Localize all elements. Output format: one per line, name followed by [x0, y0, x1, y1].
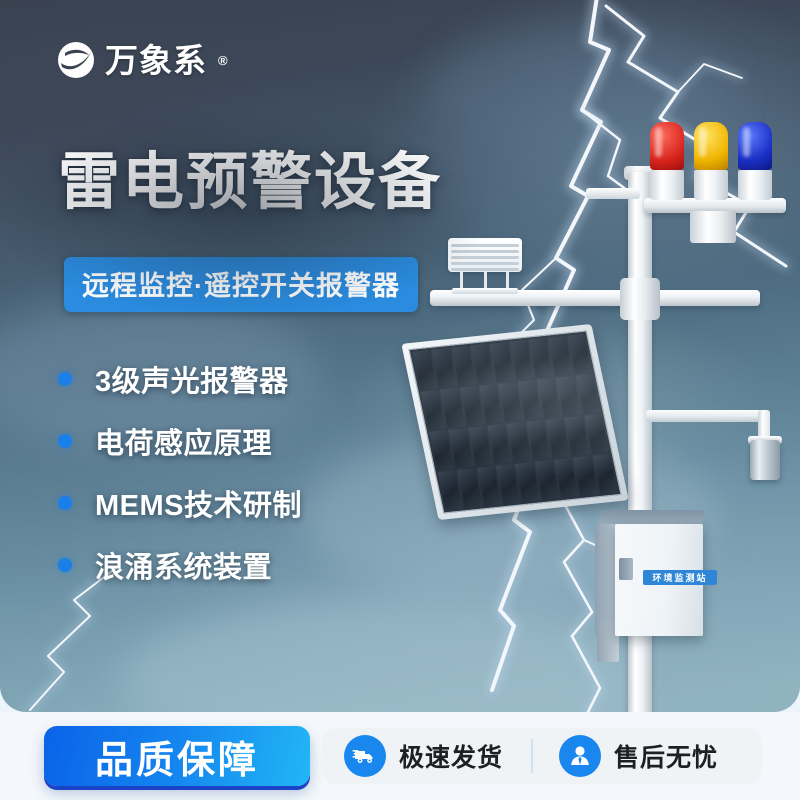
control-box-top: [597, 510, 705, 528]
mast-pole: [628, 172, 652, 712]
feature-label: MEMS技术研制: [95, 482, 302, 524]
cloud-wisp: [430, 30, 730, 160]
feature-list: 3级声光报警器 电荷感应原理 MEMS技术研制 浪涌系统装置: [58, 348, 302, 596]
list-item: 3级声光报警器: [58, 348, 302, 410]
swoosh-circle-icon: [56, 40, 96, 80]
delivery-truck-icon: [344, 735, 386, 777]
brand-name: 万象系: [105, 44, 207, 77]
solar-panel: [401, 324, 628, 520]
control-box-lower: [597, 620, 619, 662]
control-box-side: [595, 524, 617, 636]
bullet-dot-icon: [58, 558, 72, 572]
yellow-beacon: [694, 122, 728, 200]
camera-arm-vertical: [758, 410, 770, 458]
list-item: MEMS技术研制: [58, 472, 302, 534]
product-poster: 环境监测站 万象系 ® 雷电预警设备 远程监控·遥控开关报警器 3级声光报: [0, 0, 800, 800]
trust-divider: [531, 739, 533, 773]
page-title: 雷电预警设备: [58, 152, 442, 214]
footer-trust-bar: 品质保障 极速发货: [0, 712, 800, 800]
solar-panel-strut: [586, 188, 640, 199]
shield-louvers: [448, 238, 522, 272]
beacon-junction-box: [690, 211, 736, 243]
red-beacon-base: [650, 170, 684, 200]
brand-logo: 万象系 ®: [56, 40, 228, 80]
crossarm: [430, 290, 760, 306]
lightning-bolt-lower: [520, 430, 700, 712]
solar-cell-grid: [409, 330, 622, 513]
cloud-wisp: [120, 600, 640, 712]
shield-leg: [484, 272, 487, 290]
cloud-wisp: [300, 430, 720, 600]
shield-base: [452, 288, 518, 294]
yellow-beacon-base: [694, 170, 728, 200]
mast-cap: [624, 166, 656, 180]
lightning-bolt-main: [470, 0, 730, 690]
feature-label: 3级声光报警器: [95, 358, 289, 400]
control-box-front: 环境监测站: [615, 524, 703, 636]
camera-arm-horizontal: [646, 410, 770, 422]
lightning-warning-device: 环境监测站: [400, 110, 800, 710]
alarm-beacon-group: [650, 122, 780, 252]
sensor-camera: [750, 440, 780, 480]
trust-items-card: 极速发货 售后无忧: [322, 728, 762, 784]
control-box: 环境监测站: [595, 510, 703, 640]
lightning-bolt-left: [20, 560, 180, 712]
camera-mount: [748, 436, 782, 444]
feature-label: 电荷感应原理: [95, 420, 272, 462]
subtitle-banner: 远程监控·遥控开关报警器: [64, 257, 418, 312]
trust-item-fast-shipping[interactable]: 极速发货: [344, 735, 503, 777]
blue-beacon: [738, 122, 772, 200]
list-item: 电荷感应原理: [58, 410, 302, 472]
trust-label: 售后无忧: [614, 738, 718, 774]
bullet-dot-icon: [58, 434, 72, 448]
radiation-shield-sensor: [448, 238, 522, 280]
bullet-dot-icon: [58, 496, 72, 510]
feature-label: 浪涌系统装置: [95, 544, 272, 586]
storm-sky-background: 环境监测站 万象系 ® 雷电预警设备 远程监控·遥控开关报警器 3级声光报: [0, 0, 800, 712]
lightning-bolt-secondary: [600, 0, 800, 330]
bullet-dot-icon: [58, 372, 72, 386]
cloud-wisp: [0, 300, 320, 450]
control-box-label: 环境监测站: [643, 570, 717, 585]
solar-panel-frame: [401, 324, 628, 520]
quality-guarantee-badge[interactable]: 品质保障: [44, 726, 310, 786]
control-box-vent: [619, 558, 633, 580]
trust-label: 极速发货: [399, 738, 503, 774]
red-beacon: [650, 122, 684, 200]
registered-trademark-mark: ®: [218, 53, 228, 68]
trust-item-after-sales[interactable]: 售后无忧: [559, 735, 718, 777]
beacon-mount-plate: [644, 198, 786, 213]
mast-collar: [620, 278, 660, 320]
blue-beacon-base: [738, 170, 772, 200]
customer-service-icon: [559, 735, 601, 777]
shield-leg: [506, 272, 509, 290]
shield-leg: [460, 272, 463, 290]
list-item: 浪涌系统装置: [58, 534, 302, 596]
yellow-beacon-dome: [694, 122, 728, 170]
red-beacon-dome: [650, 122, 684, 170]
blue-beacon-dome: [738, 122, 772, 170]
